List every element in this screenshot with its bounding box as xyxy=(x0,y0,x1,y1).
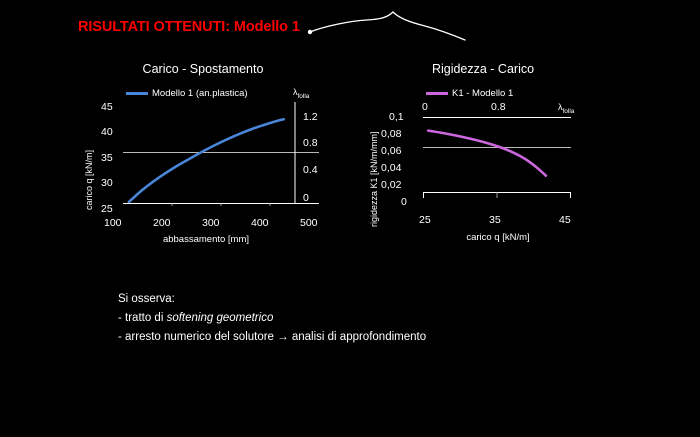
x-tick-300: 300 xyxy=(202,217,220,229)
y-tick-0: 0 xyxy=(401,196,407,208)
observations-line-1: Si osserva: xyxy=(118,290,426,309)
x-tick-25: 25 xyxy=(419,214,431,226)
y-tick-0-06: 0,06 xyxy=(381,145,401,157)
x-tick-400: 400 xyxy=(251,217,269,229)
y-axis-title-right: rigidezza K1 [kN/m/mm] xyxy=(369,131,379,227)
plot-area-right xyxy=(423,110,573,210)
chart-legend-left: Modello 1 (an.plastica) xyxy=(126,88,248,99)
y-tick-40: 40 xyxy=(101,126,113,138)
series-curve-k1-shape xyxy=(428,131,546,176)
x-tick-100: 100 xyxy=(104,217,122,229)
legend-swatch-modello1 xyxy=(126,92,148,95)
legend-label-modello1: Modello 1 (an.plastica) xyxy=(152,88,248,99)
y-tick-0-08: 0,08 xyxy=(381,128,401,140)
hand-drawn-arc-decoration xyxy=(305,4,470,44)
x-tick-500: 500 xyxy=(300,217,318,229)
chart-rigidezza-carico: Rigidezza - Carico K1 - Modello 1 rigide… xyxy=(363,62,603,242)
observations-line-3: - arresto numerico del solutore → analis… xyxy=(118,328,426,347)
observations-line-2: - tratto di softening geometrico xyxy=(118,309,426,328)
page-title: RISULTATI OTTENUTI: Modello 1 xyxy=(78,19,300,35)
y-tick-25: 25 xyxy=(101,203,113,215)
x-axis-title-right: carico q [kN/m] xyxy=(423,232,573,243)
observations-line-2-italic: softening geometrico xyxy=(167,312,274,324)
chart-title-left: Carico - Spostamento xyxy=(78,62,328,76)
y-tick-0-1: 0,1 xyxy=(389,111,404,123)
chart-carico-spostamento: Carico - Spostamento Modello 1 (an.plast… xyxy=(78,62,328,242)
observations-line-3-suffix: analisi di approfondimento xyxy=(289,331,426,343)
y-tick-45: 45 xyxy=(101,101,113,113)
y-tick-0-02: 0,02 xyxy=(381,179,401,191)
y-tick-30: 30 xyxy=(101,177,113,189)
slide-root: RISULTATI OTTENUTI: Modello 1 Carico - S… xyxy=(0,0,700,437)
y-tick-0-04: 0,04 xyxy=(381,162,401,174)
plot-area-left xyxy=(123,102,323,214)
x-tick-35: 35 xyxy=(489,214,501,226)
observations-block: Si osserva: - tratto di softening geomet… xyxy=(118,290,426,347)
observations-line-2-prefix: - tratto di xyxy=(118,312,167,324)
observations-line-3-prefix: - arresto numerico del solutore xyxy=(118,331,277,343)
x-tick-45: 45 xyxy=(559,214,571,226)
legend-swatch-k1 xyxy=(426,92,448,95)
arrow-icon: → xyxy=(277,331,289,343)
y-tick-35: 35 xyxy=(101,152,113,164)
chart-title-right: Rigidezza - Carico xyxy=(363,62,603,76)
x-axis-title-left: abbassamento [mm] xyxy=(116,234,296,245)
secondary-axis-label-left: λfolla xyxy=(293,87,309,100)
legend-label-k1: K1 - Modello 1 xyxy=(452,88,513,99)
chart-legend-right: K1 - Modello 1 xyxy=(426,88,513,99)
x-tick-200: 200 xyxy=(153,217,171,229)
series-curve-modello1 xyxy=(129,119,284,202)
lambda-subscript: folla xyxy=(298,93,310,100)
y-axis-title-left: carico q [kN/m] xyxy=(84,150,94,210)
